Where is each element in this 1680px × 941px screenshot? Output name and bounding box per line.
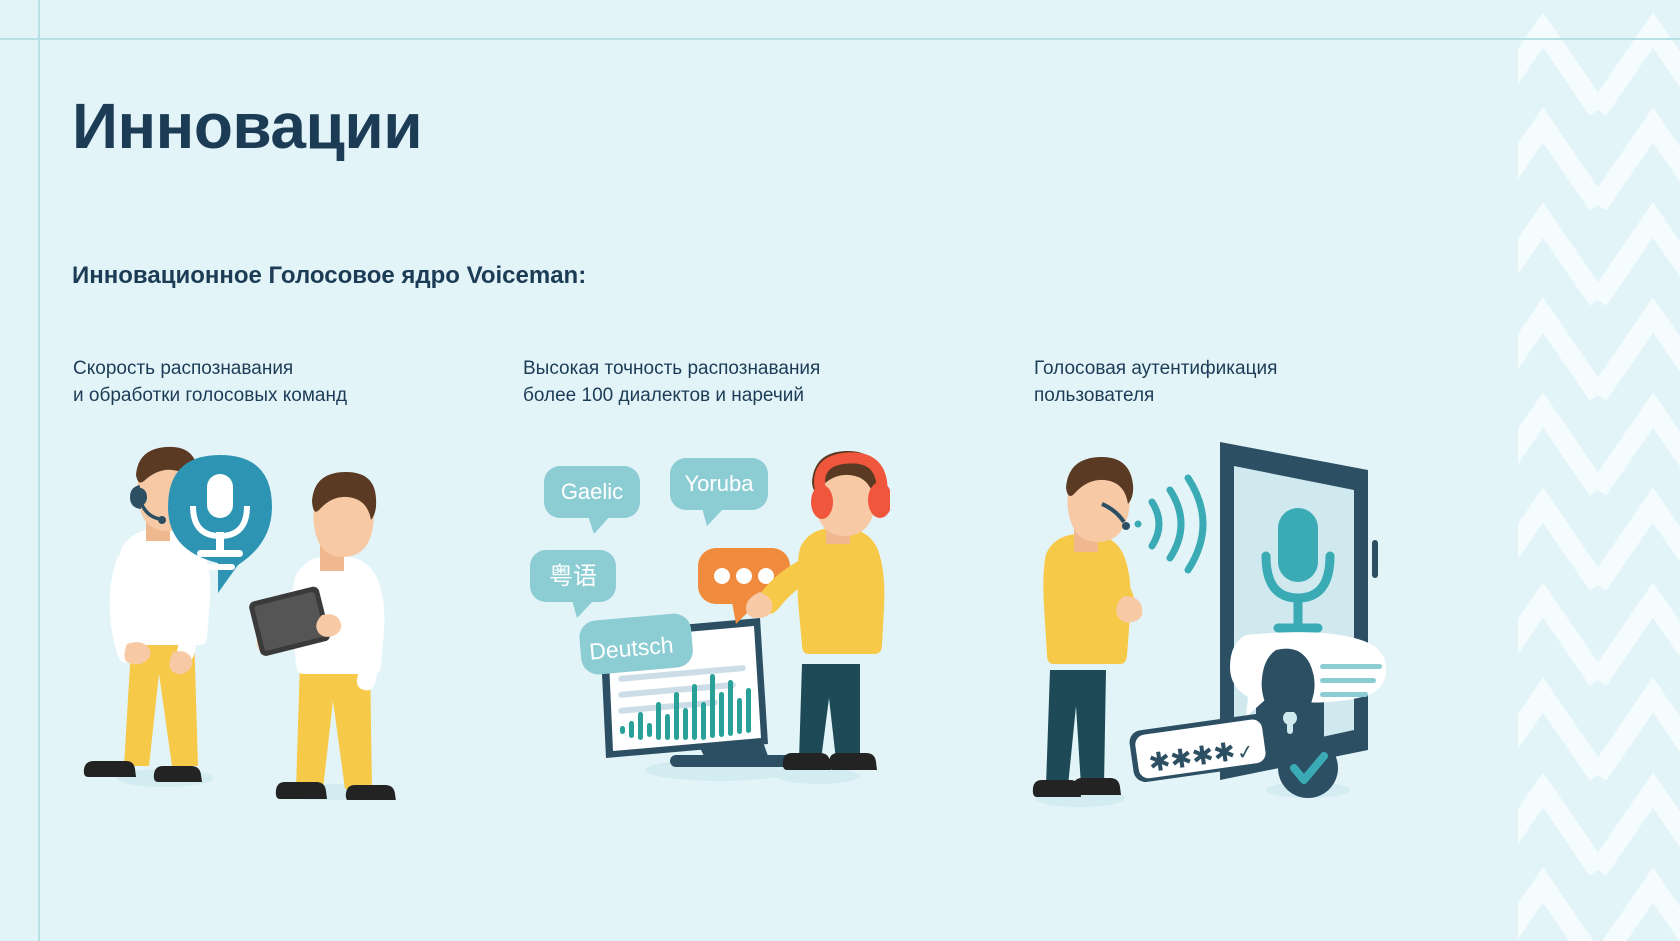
section-subtitle: Инновационное Голосовое ядро Voiceman: (72, 262, 586, 290)
guide-line-vertical (38, 0, 40, 941)
guide-line-horizontal (0, 38, 1680, 40)
language-bubble-yoruba: Yoruba (670, 458, 768, 526)
column-caption-speed: Скорость распознавания и обработки голос… (73, 356, 493, 410)
illustration-authentication: ✱✱✱✱ ✓ (1020, 420, 1400, 820)
language-bubble-cantonese: 粤语 (530, 550, 616, 618)
column-caption-accuracy: Высокая точность распознавания более 100… (523, 356, 953, 410)
language-bubble-gaelic: Gaelic (544, 466, 640, 534)
column-caption-authentication: Голосовая аутентификация пользователя (1034, 356, 1434, 410)
illustration-accuracy: Gaelic Yoruba 粤语 Deutsch (520, 440, 890, 800)
bubble-label-yoruba: Yoruba (685, 471, 755, 496)
password-check-text: ✓ (1235, 739, 1255, 765)
language-bubble-deutsch: Deutsch (578, 612, 694, 676)
slide-canvas: Инновации Инновационное Голосовое ядро V… (0, 0, 1680, 941)
chevron-pattern (1518, 0, 1680, 941)
illustration-speed (70, 425, 430, 800)
bubble-label-gaelic: Gaelic (561, 479, 623, 504)
check-badge (1278, 738, 1338, 798)
person-headphones (746, 451, 890, 770)
page-title: Инновации (72, 91, 422, 161)
bubble-label-cantonese: 粤语 (549, 562, 597, 590)
sound-wave-icon (1135, 478, 1204, 570)
